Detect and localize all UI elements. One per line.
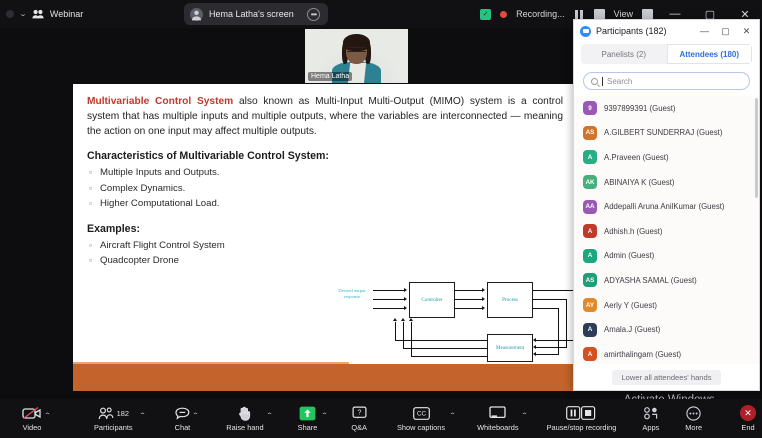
avatar: A	[583, 150, 597, 164]
characteristics-heading: Characteristics of Multivariable Control…	[87, 150, 563, 162]
avatar: A	[583, 224, 597, 238]
list-item: Quadcopter Drone	[87, 253, 563, 269]
toolbar-label: More	[685, 423, 702, 432]
avatar: 9	[583, 101, 597, 115]
list-item: Higher Computational Load.	[87, 196, 563, 212]
presenter-name-label: Hema Latha	[308, 72, 352, 81]
zoom-logo-icon	[580, 26, 591, 37]
toolbar-more-button[interactable]: More	[685, 399, 702, 438]
diagram-line	[395, 322, 396, 340]
toolbar-label: Apps	[642, 423, 659, 432]
qa-icon: ?	[352, 405, 367, 421]
attendee-name: ABINAIYA K (Guest)	[604, 178, 674, 187]
control-system-block-diagram: Desired output response Controller Proce…	[335, 274, 575, 366]
titlebar-left-group: ⌄ Webinar	[0, 9, 180, 19]
attendee-name: Addepalli Aruna AnilKumar (Guest)	[604, 202, 724, 211]
stop-recording-icon[interactable]	[594, 9, 605, 20]
participants-icon: 182	[98, 405, 129, 421]
toolbar-label: Raise hand	[226, 423, 263, 432]
diagram-line	[533, 299, 567, 300]
hand-icon	[238, 405, 251, 421]
list-scrollbar[interactable]	[755, 98, 758, 198]
diagram-line	[455, 290, 483, 291]
list-item[interactable]: A Adhish.h (Guest)	[574, 219, 759, 244]
diagram-line	[411, 356, 487, 357]
toolbar-label: Whiteboards	[477, 423, 519, 432]
presenter-glasses	[347, 47, 366, 52]
diagram-arrow	[404, 288, 407, 292]
tab-panelists[interactable]: Panelists (2)	[581, 44, 667, 64]
diagram-line	[403, 322, 404, 348]
search-icon	[591, 78, 598, 85]
avatar: AS	[583, 126, 597, 140]
view-layout-icon[interactable]	[642, 9, 653, 20]
diagram-line	[535, 347, 567, 348]
list-item[interactable]: A amirthalingam (Guest)	[574, 342, 759, 364]
diagram-arrow	[533, 352, 536, 356]
view-label[interactable]: View	[614, 9, 633, 19]
end-label: End	[741, 423, 754, 432]
diagram-line	[535, 354, 559, 355]
panel-maximize-button[interactable]: ▢	[715, 21, 736, 42]
search-input[interactable]: Search	[583, 72, 750, 90]
diagram-line	[373, 308, 405, 309]
list-item[interactable]: AY Aerly Y (Guest)	[574, 293, 759, 318]
diagram-line	[411, 322, 412, 356]
panel-window-controls: — ▢ ✕	[694, 21, 757, 42]
participants-panel-footer: Lower all attendees' hands	[574, 364, 759, 390]
diagram-line	[373, 299, 405, 300]
pause-recording-icon[interactable]	[574, 9, 585, 20]
attendee-name: Amala.J (Guest)	[604, 325, 660, 334]
attendee-list[interactable]: 9 9397899391 (Guest) AS A.GILBERT SUNDER…	[574, 96, 759, 364]
chevron-up-icon[interactable]: ⌃	[192, 412, 200, 419]
toolbar-pause-stop-recording-button[interactable]: Pause/stop recording	[547, 399, 617, 438]
webinar-label: Webinar	[50, 9, 83, 19]
webinar-people-icon	[32, 9, 44, 19]
list-item[interactable]: AA Addepalli Aruna AnilKumar (Guest)	[574, 194, 759, 219]
participants-panel-titlebar: Participants (182) — ▢ ✕	[574, 20, 759, 42]
examples-heading: Examples:	[87, 223, 563, 235]
chevron-up-icon[interactable]: ⌃	[449, 412, 457, 419]
toolbar-qa-button[interactable]: ? Q&A	[351, 399, 367, 438]
avatar: AA	[583, 200, 597, 214]
slide-paragraph: Multivariable Control System also known …	[87, 94, 563, 139]
lower-all-hands-button[interactable]: Lower all attendees' hands	[612, 370, 720, 385]
share-avatar-icon	[190, 8, 203, 21]
toolbar-video-button[interactable]: Video ⌃	[22, 399, 42, 438]
toolbar-label: Video	[23, 423, 42, 432]
diagram-arrow	[482, 306, 485, 310]
diagram-line	[455, 308, 483, 309]
meeting-security-icon[interactable]	[480, 9, 491, 20]
toolbar-share-button[interactable]: Share ⌃	[298, 399, 318, 438]
attendee-name: amirthalingam (Guest)	[604, 350, 681, 359]
search-placeholder: Search	[607, 77, 632, 86]
diagram-arrow	[409, 318, 413, 321]
panel-close-button[interactable]: ✕	[736, 21, 757, 42]
diagram-input-label: Desired output response	[335, 288, 369, 300]
avatar: A	[583, 347, 597, 361]
slide-footer-bar	[73, 364, 575, 391]
list-item: Multiple Inputs and Outputs.	[87, 165, 563, 181]
diagram-arrow	[401, 318, 405, 321]
attendee-name: A.GILBERT SUNDERRAJ (Guest)	[604, 128, 722, 137]
end-meeting-button[interactable]: ✕ End	[740, 405, 756, 432]
list-item[interactable]: A A.Praveen (Guest)	[574, 145, 759, 170]
chevron-down-icon[interactable]: ⌄	[19, 10, 27, 18]
slide-highlight-term: Multivariable Control System	[87, 96, 233, 107]
characteristics-list: Multiple Inputs and Outputs. Complex Dyn…	[87, 165, 563, 212]
diagram-block-process: Process	[487, 282, 533, 318]
diagram-arrow	[404, 297, 407, 301]
examples-list: Aircraft Flight Control System Quadcopte…	[87, 238, 563, 269]
share-owner-label: Hema Latha's screen	[209, 9, 294, 19]
list-item[interactable]: AK ABINAIYA K (Guest)	[574, 170, 759, 195]
avatar: A	[583, 323, 597, 337]
avatar: AS	[583, 273, 597, 287]
chevron-up-icon[interactable]: ⌃	[321, 412, 329, 419]
diagram-line	[395, 340, 487, 341]
attendee-name: Adhish.h (Guest)	[604, 227, 663, 236]
list-item: Complex Dynamics.	[87, 181, 563, 197]
diagram-block-measurement: Measurement	[487, 334, 533, 362]
toolbar-label: Show captions	[397, 423, 445, 432]
svg-text:CC: CC	[416, 410, 426, 417]
diagram-arrow	[404, 306, 407, 310]
participants-panel: Participants (182) — ▢ ✕ Panelists (2) A…	[573, 19, 760, 391]
meeting-toolbar: Video ⌃ 182 Participants ⌃ Chat ⌃ Raise …	[0, 399, 762, 438]
chevron-up-icon[interactable]: ⌃	[520, 412, 528, 419]
diagram-line	[533, 308, 559, 309]
toolbar-whiteboards-button[interactable]: Whiteboards ⌃	[477, 399, 519, 438]
more-icon	[686, 405, 701, 421]
close-icon: ✕	[740, 405, 756, 421]
zoom-webinar-window: ⌄ Webinar Hema Latha's screen ••• Record…	[0, 0, 762, 438]
chevron-up-icon[interactable]: ⌃	[265, 412, 273, 419]
toolbar-apps-button[interactable]: Apps	[642, 399, 659, 438]
chevron-up-icon[interactable]: ⌃	[44, 412, 52, 419]
toolbar-raise-hand-button[interactable]: Raise hand ⌃	[226, 399, 263, 438]
attendee-name: A.Praveen (Guest)	[604, 153, 669, 162]
screen-share-indicator[interactable]: Hema Latha's screen •••	[184, 3, 328, 25]
share-icon	[299, 405, 316, 421]
participants-panel-title: Participants (182)	[596, 26, 667, 36]
slide-content: Multivariable Control System also known …	[73, 84, 575, 269]
avatar: A	[583, 249, 597, 263]
toolbar-label: Participants	[94, 423, 133, 432]
diagram-arrow	[393, 318, 397, 321]
participants-tabs: Panelists (2) Attendees (180)	[581, 44, 752, 64]
toolbar-participants-button[interactable]: 182 Participants ⌃	[94, 399, 133, 438]
attendee-name: Admin (Guest)	[604, 251, 654, 260]
diagram-line	[533, 290, 575, 291]
text-caret	[602, 77, 603, 86]
record-icon	[566, 405, 596, 421]
toolbar-label: Q&A	[351, 423, 367, 432]
svg-text:?: ?	[357, 410, 361, 417]
diagram-line	[535, 340, 575, 341]
presenter-video-thumbnail[interactable]: Hema Latha	[305, 29, 408, 83]
toolbar-chat-button[interactable]: Chat ⌃	[175, 399, 191, 438]
diagram-arrow	[533, 345, 536, 349]
diagram-line	[455, 299, 483, 300]
toolbar-label: Chat	[175, 423, 191, 432]
app-dot-icon	[6, 10, 14, 18]
share-more-icon[interactable]: •••	[307, 8, 320, 21]
apps-icon	[643, 405, 659, 421]
recording-dot-icon	[500, 11, 507, 18]
attendee-name: Aerly Y (Guest)	[604, 301, 657, 310]
chevron-up-icon[interactable]: ⌃	[138, 412, 146, 419]
chat-icon	[175, 405, 190, 421]
diagram-block-controller: Controller	[409, 282, 455, 318]
attendee-name: ADYASHA SAMAL (Guest)	[604, 276, 697, 285]
participants-count-badge: 182	[117, 409, 129, 418]
video-off-icon	[22, 405, 42, 421]
tab-attendees[interactable]: Attendees (180)	[667, 44, 753, 64]
avatar: AY	[583, 298, 597, 312]
attendee-name: 9397899391 (Guest)	[604, 104, 676, 113]
diagram-arrow	[482, 288, 485, 292]
diagram-arrow	[482, 297, 485, 301]
recording-label: Recording...	[516, 9, 565, 19]
list-item[interactable]: AS A.GILBERT SUNDERRAJ (Guest)	[574, 121, 759, 146]
list-item[interactable]: A Amala.J (Guest)	[574, 317, 759, 342]
diagram-arrow	[533, 338, 536, 342]
panel-minimize-button[interactable]: —	[694, 21, 715, 42]
diagram-line	[403, 348, 487, 349]
captions-icon: CC	[413, 405, 430, 421]
toolbar-captions-button[interactable]: CC Show captions ⌃	[397, 399, 445, 438]
avatar: AK	[583, 175, 597, 189]
list-item[interactable]: 9 9397899391 (Guest)	[574, 96, 759, 121]
toolbar-label: Share	[298, 423, 318, 432]
diagram-line	[373, 290, 405, 291]
whiteboard-icon	[489, 405, 506, 421]
toolbar-label: Pause/stop recording	[547, 423, 617, 432]
list-item[interactable]: AS ADYASHA SAMAL (Guest)	[574, 268, 759, 293]
list-item: Aircraft Flight Control System	[87, 238, 563, 254]
list-item[interactable]: A Admin (Guest)	[574, 244, 759, 269]
shared-slide: Multivariable Control System also known …	[73, 84, 575, 391]
